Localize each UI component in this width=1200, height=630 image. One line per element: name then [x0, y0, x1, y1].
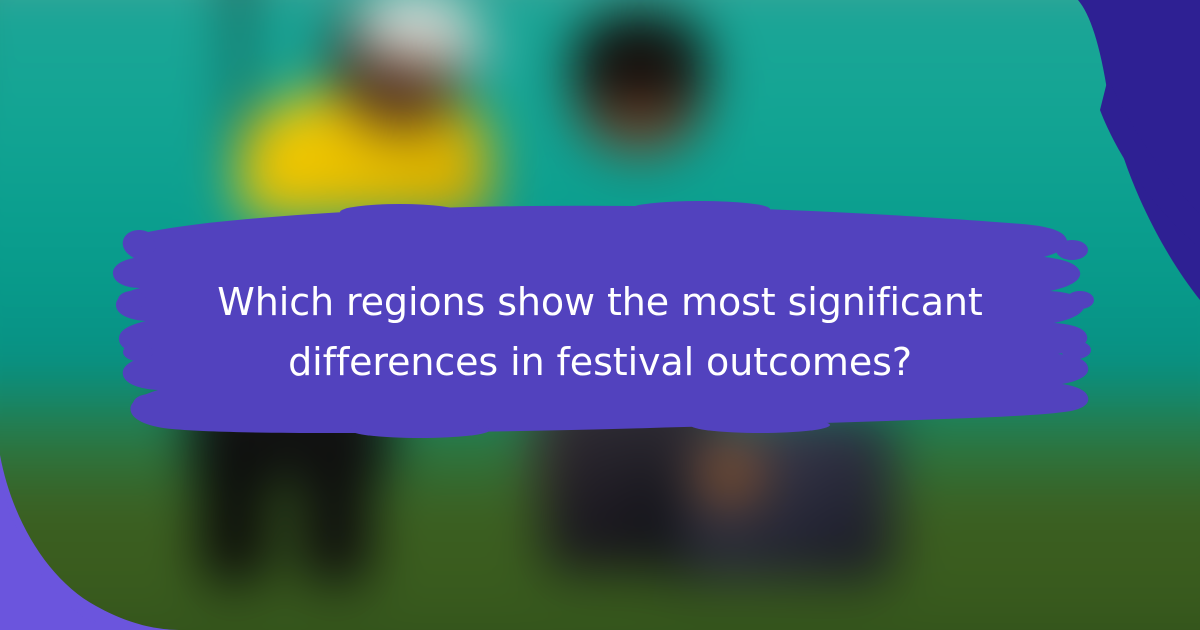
social-quote-card: Which regions show the most significant …	[0, 0, 1200, 630]
headline-line-2: differences in festival outcomes?	[150, 332, 1050, 392]
headline-line-1: Which regions show the most significant	[150, 272, 1050, 332]
headline: Which regions show the most significant …	[150, 272, 1050, 392]
